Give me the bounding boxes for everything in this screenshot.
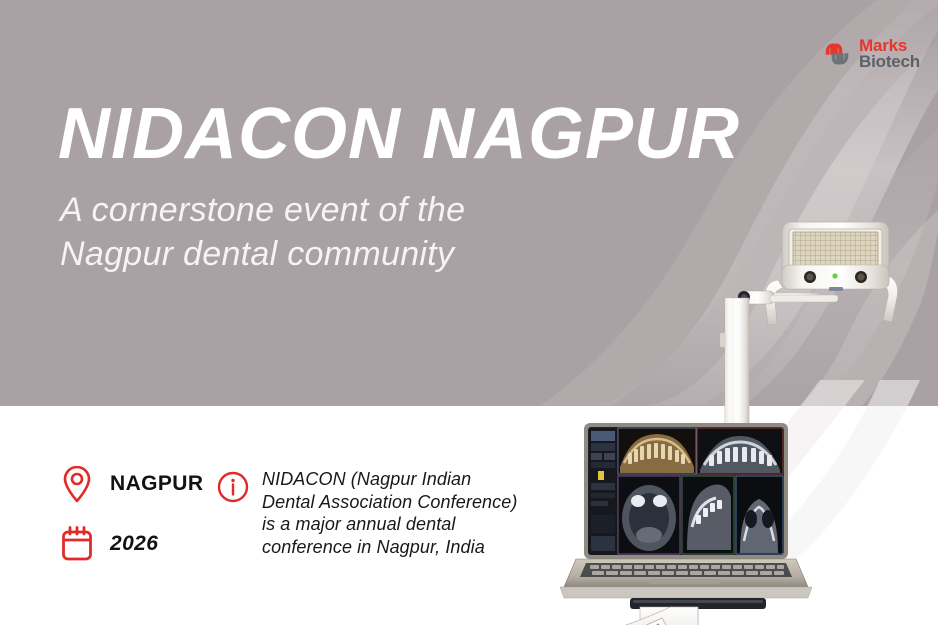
event-description-text: NIDACON (Nagpur Indian Dental Associatio… [262,468,517,558]
fact-year: 2026 [60,522,203,566]
event-facts: NAGPUR 2026 [60,462,203,566]
fact-year-label: 2026 [110,532,158,556]
marks-biotech-interlock-icon [822,39,852,69]
ribbon-foreground-decor [520,380,938,625]
brand-name-line2: Biotech [859,54,920,70]
hero-band: Marks Biotech NIDACON NAGPUR A cornersto… [0,0,938,406]
poster-canvas: Marks Biotech NIDACON NAGPUR A cornersto… [0,0,938,625]
description-line-2: Dental Association Conference) [262,491,517,514]
page-subtitle: A cornerstone event of the Nagpur dental… [60,188,465,276]
description-line-4: conference in Nagpur, India [262,536,517,559]
event-description: NIDACON (Nagpur Indian Dental Associatio… [216,468,546,558]
fact-location: NAGPUR [60,462,203,506]
location-pin-icon [60,464,94,504]
page-title: NIDACON NAGPUR [58,98,740,170]
description-line-3: is a major annual dental [262,513,517,536]
brand-wordmark: Marks Biotech [859,38,920,71]
subtitle-line-1: A cornerstone event of the [60,188,465,232]
subtitle-line-2: Nagpur dental community [60,232,465,276]
info-circle-icon [216,470,250,504]
calendar-icon [60,524,94,564]
brand-logo: Marks Biotech [822,38,920,71]
description-line-1: NIDACON (Nagpur Indian [262,468,517,491]
fact-location-label: NAGPUR [110,472,203,496]
